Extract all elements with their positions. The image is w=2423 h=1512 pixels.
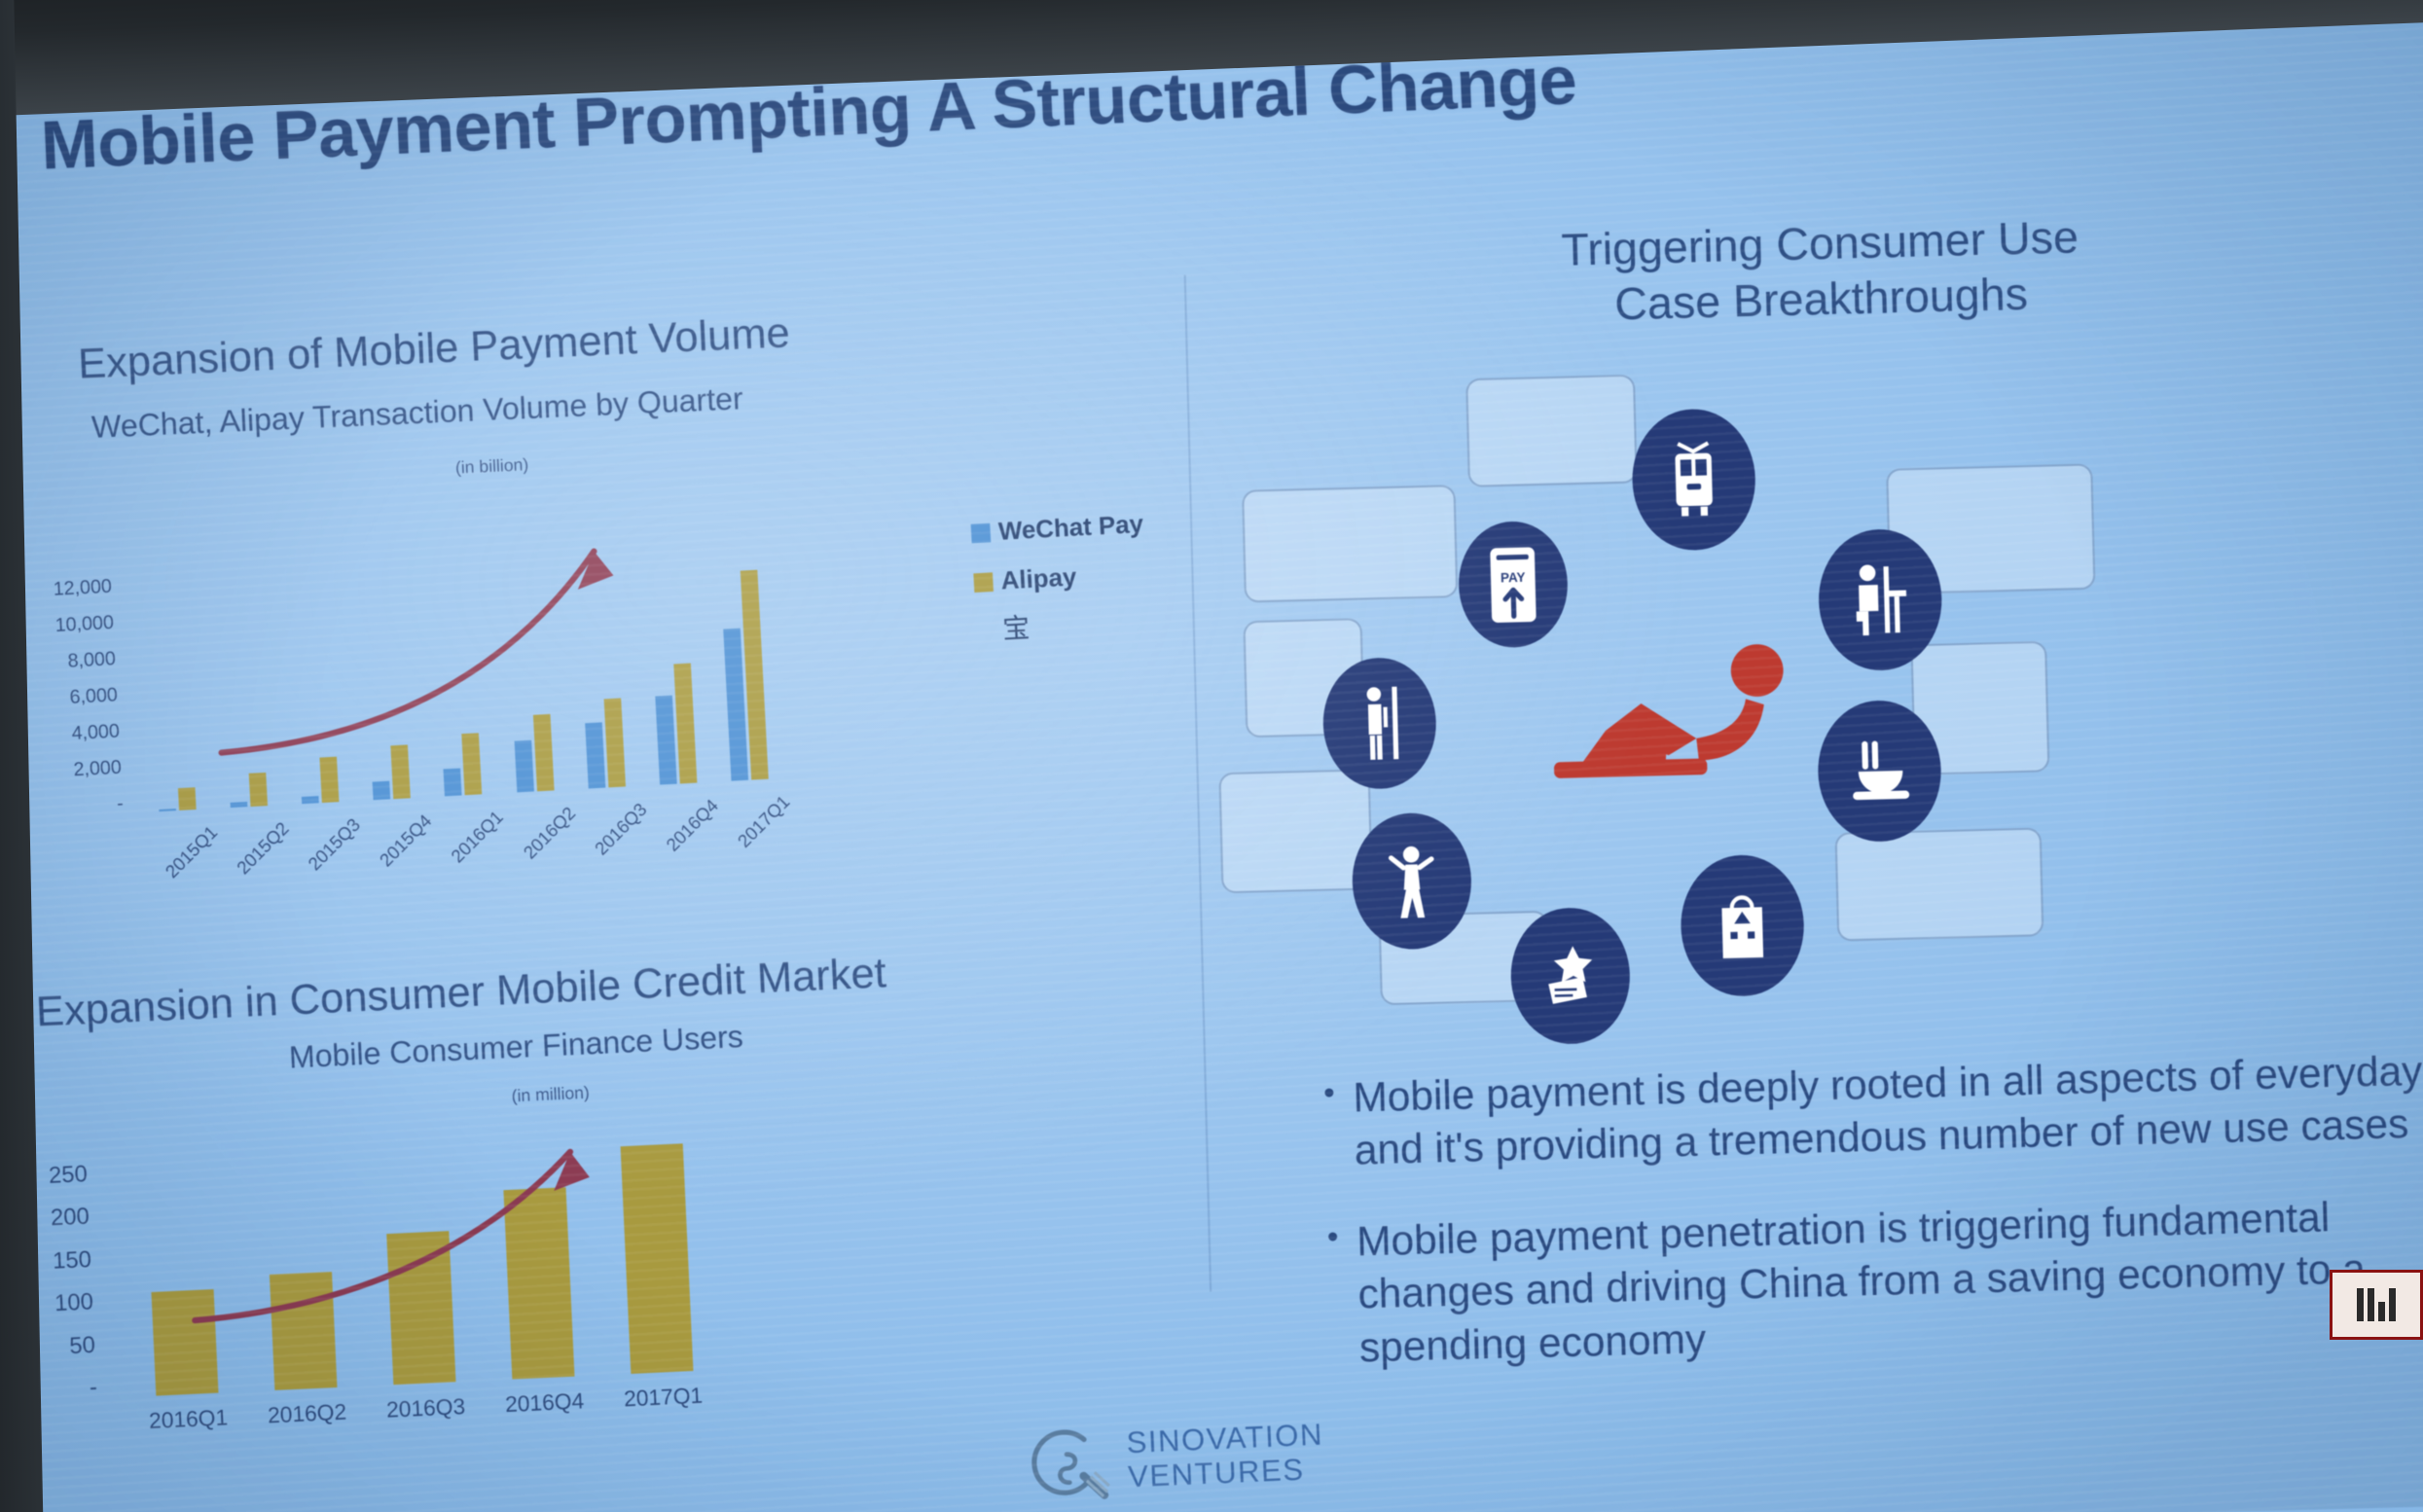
reclining-person-figure — [1542, 627, 1819, 814]
y-tick-label: 4,000 — [71, 722, 120, 743]
x-tick-label: 2016Q3 — [591, 799, 651, 859]
legend-label-alipay: Alipay — [1000, 563, 1077, 596]
right-column-heading: Triggering Consumer Use Case Breakthroug… — [1316, 204, 2326, 341]
bar-group — [212, 772, 285, 809]
bar-wechat-pay — [159, 809, 176, 811]
bar-mobile-consumer-finance-users — [503, 1187, 574, 1379]
desk-work-icon-glyph — [1847, 559, 1913, 639]
left-column: Expansion of Mobile Payment Volume WeCha… — [0, 0, 1233, 1512]
bar-mobile-consumer-finance-users — [151, 1289, 218, 1396]
mobile-pay-icon-glyph: PAY — [1484, 545, 1542, 625]
chart2-unit-note: (in million) — [511, 1083, 590, 1106]
mit-badge-bars-icon — [2357, 1288, 2396, 1321]
bar-alipay — [462, 734, 483, 796]
bar-group — [282, 756, 356, 805]
bar-mobile-consumer-finance-users — [270, 1272, 338, 1390]
bar-mobile-consumer-finance-users — [621, 1144, 694, 1374]
bar-alipay — [603, 698, 625, 787]
legend-cjk-glyph: 宝 — [1002, 608, 1149, 643]
bar-wechat-pay — [655, 696, 676, 785]
bar-wechat-pay — [514, 740, 533, 793]
callout-box-right-lower — [1834, 827, 2043, 941]
x-tick-label: 2015Q3 — [305, 814, 365, 875]
chart2-subheading: Mobile Consumer Finance Users — [288, 1019, 743, 1076]
bar-group — [475, 1186, 602, 1381]
callout-box-top-left — [1465, 375, 1638, 487]
bar-group — [141, 787, 214, 812]
projected-slide: Mobile Payment Prompting A Structural Ch… — [0, 0, 2423, 1512]
x-tick-label: 2016Q2 — [247, 1398, 367, 1430]
bar-group — [241, 1271, 365, 1391]
svg-text:PAY: PAY — [1501, 569, 1526, 585]
y-tick-label: 100 — [54, 1290, 94, 1315]
mobile-pay-icon: PAY — [1457, 521, 1569, 649]
y-tick-label: 50 — [69, 1333, 96, 1357]
chart2-heading: Expansion in Consumer Mobile Credit Mark… — [35, 949, 887, 1036]
bar-group — [425, 733, 500, 798]
bar-alipay — [249, 773, 268, 807]
bullet-list: •Mobile payment is deeply rooted in all … — [1323, 1043, 2423, 1413]
x-tick-label: 2017Q1 — [603, 1382, 723, 1414]
bar-alipay — [532, 713, 554, 791]
use-case-icon-cluster: PAY — [1209, 353, 2423, 1029]
sinovation-wordmark: SINOVATION VENTURES — [1126, 1419, 1325, 1494]
x-tick-label: 2016Q1 — [448, 807, 508, 867]
x-tick-label: 2016Q3 — [366, 1392, 486, 1424]
x-tick-label: 2016Q1 — [128, 1404, 248, 1436]
bar-wechat-pay — [444, 768, 462, 796]
bar-group — [353, 744, 427, 802]
y-tick-label: 10,000 — [54, 613, 114, 635]
bar-group — [703, 569, 785, 781]
x-tick-label: 2015Q4 — [376, 810, 436, 871]
train-icon — [1631, 408, 1757, 552]
bar-mobile-consumer-finance-users — [386, 1231, 455, 1385]
entertainment-icon — [1509, 907, 1632, 1046]
callout-box-left-upper — [1242, 485, 1458, 602]
y-tick-label: 2,000 — [73, 758, 122, 779]
bar-alipay — [673, 663, 697, 783]
bullet-item: •Mobile payment is deeply rooted in all … — [1323, 1043, 2423, 1178]
x-tick-label: 2015Q2 — [233, 818, 293, 879]
bar-alipay — [320, 757, 340, 803]
legend-swatch-alipay-icon — [973, 572, 994, 593]
callout-box-left-lower — [1218, 769, 1372, 893]
bullet-marker-icon: • — [1326, 1216, 1342, 1375]
y-tick-label: 250 — [48, 1162, 88, 1187]
bar-group — [123, 1287, 246, 1397]
legend-label-wechat: WeChat Pay — [997, 510, 1143, 547]
legend-item-wechat-pay: WeChat Pay — [970, 510, 1143, 548]
sinovation-ventures-logo: SINOVATION VENTURES — [1023, 1409, 1326, 1508]
y-tick-label: 12,000 — [53, 577, 112, 599]
mit-badge — [2330, 1270, 2423, 1340]
bar-wechat-pay — [373, 781, 391, 800]
bullet-text: Mobile payment is deeply rooted in all a… — [1353, 1043, 2423, 1177]
chart1-legend: WeChat Pay Alipay 宝 — [970, 510, 1149, 645]
legend-swatch-wechat-icon — [971, 523, 992, 544]
bar-group — [495, 713, 571, 794]
sinovation-logo-mark-icon — [1023, 1419, 1113, 1509]
x-tick-label: 2015Q1 — [162, 822, 222, 882]
chart1-heading: Expansion of Mobile Payment Volume — [77, 308, 791, 388]
exercise-person-icon-glyph — [1383, 841, 1441, 922]
y-tick-label: 6,000 — [69, 686, 118, 707]
train-icon-glyph — [1664, 439, 1724, 521]
bar-group — [636, 662, 714, 785]
bar-group — [593, 1142, 722, 1375]
bullet-item: •Mobile payment penetration is triggerin… — [1326, 1187, 2423, 1375]
bullet-text: Mobile payment penetration is triggering… — [1356, 1187, 2423, 1374]
entertainment-icon-glyph — [1539, 940, 1602, 1012]
x-tick-label: 2016Q4 — [485, 1387, 604, 1420]
bar-group — [566, 697, 642, 789]
bar-alipay — [391, 745, 411, 800]
bar-group — [358, 1229, 484, 1386]
y-tick-label: 200 — [51, 1205, 90, 1230]
shopping-bag-icon-glyph — [1714, 888, 1772, 962]
x-tick-label: 2016Q4 — [662, 795, 722, 855]
y-tick-label: 150 — [53, 1247, 92, 1273]
right-column: Triggering Consumer Use Case Breakthroug… — [1199, 0, 2423, 1512]
food-bowl-icon-glyph — [1847, 734, 1911, 808]
mobile-payment-volume-chart: Expansion of Mobile Payment Volume WeCha… — [0, 0, 1216, 911]
x-tick-label: 2017Q1 — [734, 792, 794, 852]
chart2-bars — [117, 1134, 721, 1397]
y-tick-label: - — [117, 794, 125, 813]
shopping-bag-icon — [1680, 853, 1806, 997]
bar-wechat-pay — [585, 723, 605, 789]
bar-wechat-pay — [231, 802, 248, 808]
x-tick-label: 2016Q2 — [519, 803, 579, 863]
chart1-subheading: WeChat, Alipay Transaction Volume by Qua… — [90, 380, 743, 446]
y-tick-label: - — [89, 1376, 97, 1399]
bar-wechat-pay — [302, 796, 319, 805]
chart1-x-axis: 2015Q12015Q22015Q32015Q42016Q12016Q22016… — [143, 791, 791, 916]
chart1-bars — [129, 542, 785, 812]
standing-person-icon-glyph — [1352, 682, 1408, 764]
y-tick-label: 8,000 — [67, 649, 116, 670]
sinovation-line2: VENTURES — [1127, 1453, 1325, 1494]
chart1-unit-note: (in billion) — [455, 455, 529, 479]
bullet-marker-icon: • — [1323, 1072, 1337, 1178]
bar-alipay — [178, 788, 197, 810]
legend-item-alipay: Alipay — [973, 559, 1146, 597]
